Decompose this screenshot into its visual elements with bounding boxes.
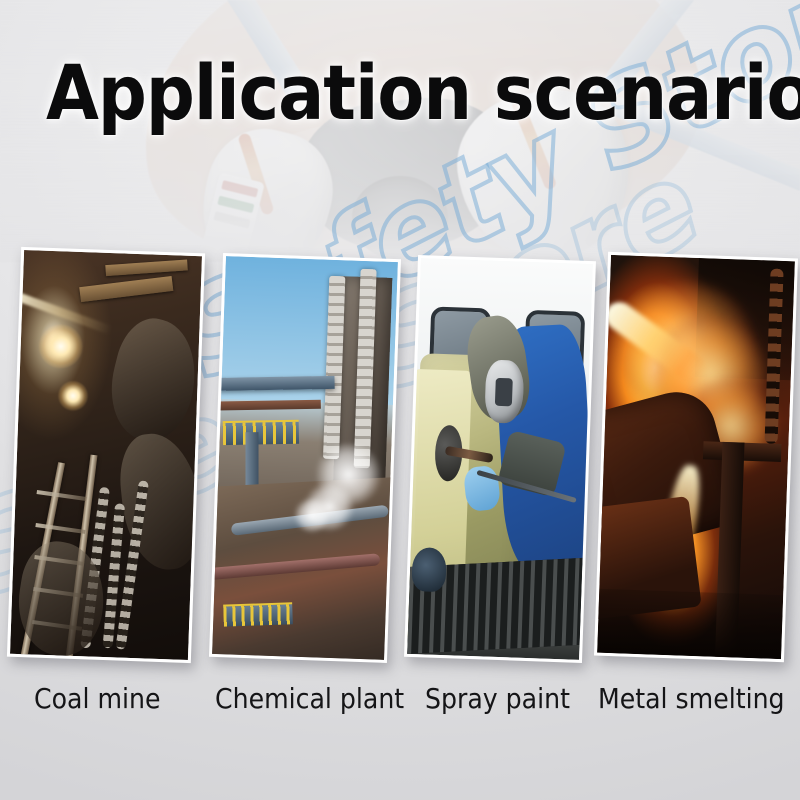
coal-mine-photo [10,250,202,660]
caption-metal-smelting: Metal smelting [598,682,785,715]
scenario-panel-coal-mine[interactable] [7,247,205,663]
scenario-panel-spray-paint[interactable] [404,255,596,663]
metal-smelting-photo [597,255,795,659]
spray-paint-photo [407,258,593,660]
scenario-panel-chemical-plant[interactable] [209,253,401,663]
caption-coal-mine: Coal mine [34,682,160,715]
scenario-panel-metal-smelting[interactable] [594,252,798,662]
page-title: Application scenarios [46,52,800,134]
caption-spray-paint: Spray paint [425,682,570,715]
application-scenarios-banner: Safety Store Safety Store Application sc… [0,0,800,800]
caption-chemical-plant: Chemical plant [215,682,404,715]
chemical-plant-photo [212,256,398,660]
